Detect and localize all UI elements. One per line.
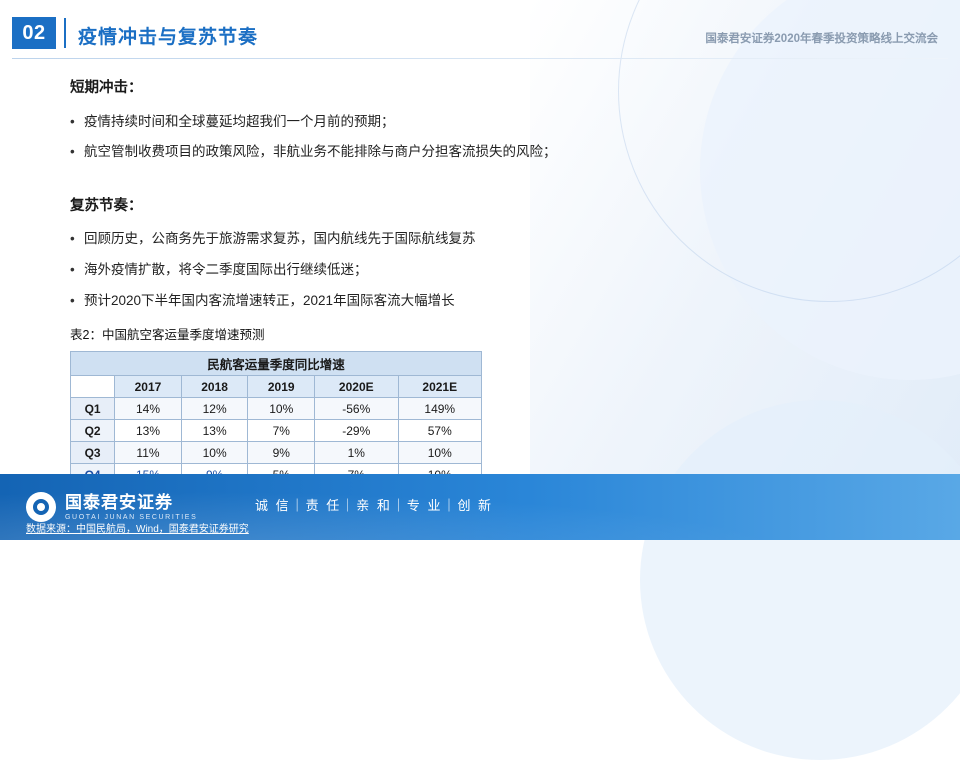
- table-row: Q2 13% 13% 7% -29% 57%: [71, 420, 482, 442]
- table-row-label: Q3: [71, 442, 115, 464]
- table-cell: 10%: [398, 442, 482, 464]
- table-row: Q1 14% 12% 10% -56% 149%: [71, 398, 482, 420]
- table-cell: 149%: [398, 398, 482, 420]
- table-cell: 13%: [115, 420, 182, 442]
- logo-name-cn: 国泰君安证券: [65, 494, 197, 511]
- table-cell: 10%: [248, 398, 315, 420]
- bullet-item: •海外疫情扩散，将令二季度国际出行继续低迷；: [70, 258, 368, 278]
- source-note: 数据来源：中国民航局，Wind，国泰君安证券研究: [26, 520, 249, 535]
- page-title: 疫情冲击与复苏节奏: [78, 22, 258, 49]
- bullet-dot: •: [70, 144, 84, 159]
- logo-circle-icon: [26, 492, 56, 522]
- bullet-item: •疫情持续时间和全球蔓延均超我们一个月前的预期；: [70, 110, 395, 130]
- bullet-text: 航空管制收费项目的政策风险，非航业务不能排除与商户分担客流损失的风险；: [84, 144, 557, 159]
- bullet-text: 回顾历史，公商务先于旅游需求复苏，国内航线先于国际航线复苏: [84, 231, 476, 246]
- table-row-label: Q2: [71, 420, 115, 442]
- table-cell: 12%: [181, 398, 248, 420]
- slide-content: 短期冲击： •疫情持续时间和全球蔓延均超我们一个月前的预期； •航空管制收费项目…: [0, 66, 960, 540]
- quarterly-growth-table: 民航客运量季度同比增速 2017 2018 2019 2020E 2021E Q…: [70, 351, 482, 486]
- table-cell: 11%: [115, 442, 182, 464]
- heading-recovery-pace: 复苏节奏：: [70, 194, 143, 215]
- bullet-item: •回顾历史，公商务先于旅游需求复苏，国内航线先于国际航线复苏: [70, 227, 476, 247]
- bullet-item: •航空管制收费项目的政策风险，非航业务不能排除与商户分担客流损失的风险；: [70, 140, 557, 160]
- table-row: Q3 11% 10% 9% 1% 10%: [71, 442, 482, 464]
- table-header-cell-2020e: 2020E: [315, 376, 398, 398]
- footer-slogan: 诚 信｜责 任｜亲 和｜专 业｜创 新: [255, 495, 493, 514]
- bullet-dot: •: [70, 114, 84, 129]
- bullet-dot: •: [70, 231, 84, 246]
- header-rule: [12, 58, 948, 59]
- table-cell: 1%: [315, 442, 398, 464]
- heading-short-term-impact: 短期冲击：: [70, 76, 143, 97]
- section-number: 02: [12, 17, 56, 49]
- table-cell: 14%: [115, 398, 182, 420]
- table-header-cell-2019: 2019: [248, 376, 315, 398]
- table-cell: 7%: [248, 420, 315, 442]
- table-row-label: Q1: [71, 398, 115, 420]
- bullet-item: •预计2020下半年国内客流增速转正，2021年国际客流大幅增长: [70, 289, 455, 309]
- table-title-cell: 民航客运量季度同比增速: [71, 352, 482, 376]
- table-header-row: 2017 2018 2019 2020E 2021E: [71, 376, 482, 398]
- table-header-cell-2017: 2017: [115, 376, 182, 398]
- table-cell: 57%: [398, 420, 482, 442]
- header-event-label: 国泰君安证券2020年春季投资策略线上交流会: [705, 30, 938, 46]
- table-cell: 9%: [248, 442, 315, 464]
- company-logo: 国泰君安证券 GUOTAI JUNAN SECURITIES: [26, 492, 197, 522]
- bullet-text: 预计2020下半年国内客流增速转正，2021年国际客流大幅增长: [84, 293, 455, 308]
- table-title-row: 民航客运量季度同比增速: [71, 352, 482, 376]
- table-caption: 表2：中国航空客运量季度增速预测: [70, 324, 264, 343]
- header-divider: [64, 18, 66, 48]
- table-cell: -56%: [315, 398, 398, 420]
- table-cell: 13%: [181, 420, 248, 442]
- bullet-text: 疫情持续时间和全球蔓延均超我们一个月前的预期；: [84, 114, 395, 129]
- table-cell: -29%: [315, 420, 398, 442]
- table-header-cell-blank: [71, 376, 115, 398]
- table-cell: 10%: [181, 442, 248, 464]
- table-header-cell-2021e: 2021E: [398, 376, 482, 398]
- bullet-dot: •: [70, 293, 84, 308]
- table-header-cell-2018: 2018: [181, 376, 248, 398]
- slide-header: 02 疫情冲击与复苏节奏 国泰君安证券2020年春季投资策略线上交流会: [0, 0, 960, 66]
- bullet-text: 海外疫情扩散，将令二季度国际出行继续低迷；: [84, 262, 368, 277]
- bullet-dot: •: [70, 262, 84, 277]
